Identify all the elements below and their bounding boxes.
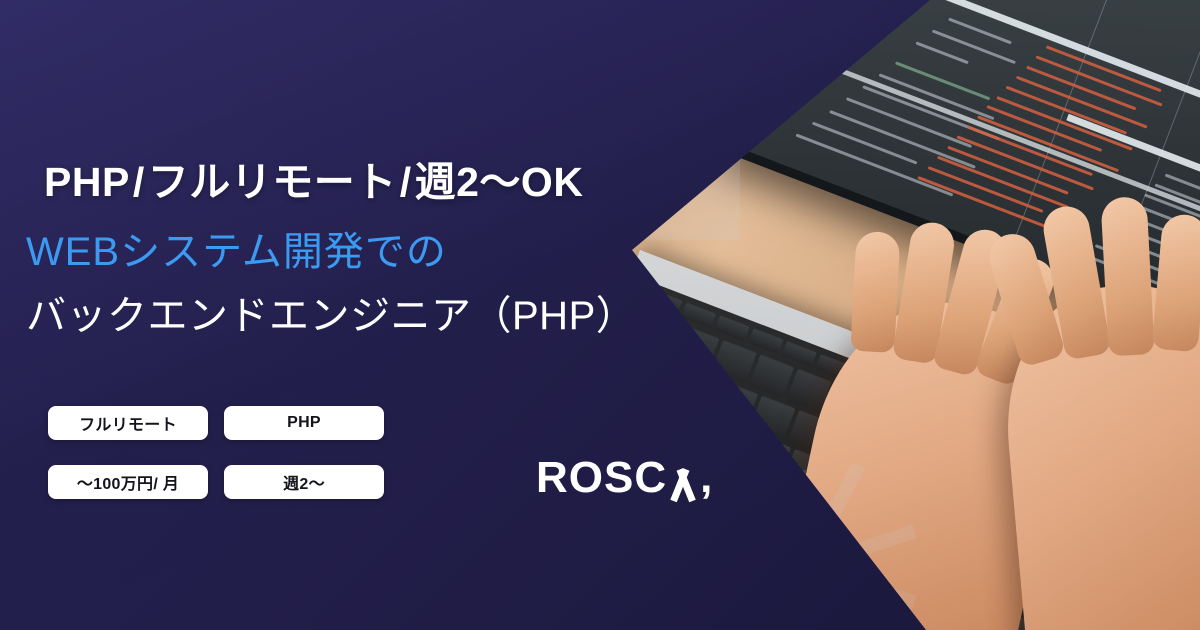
headline-part1: PHP xyxy=(44,159,130,205)
tag-list: フルリモート PHP 〜100万円/ 月 週2〜 xyxy=(48,406,384,499)
tag-php[interactable]: PHP xyxy=(224,406,384,440)
tag-full-remote[interactable]: フルリモート xyxy=(48,406,208,440)
rosca-logo: ROSC , xyxy=(536,456,712,500)
ogp-card: PHP/フルリモート/週2〜OK WEBシステム開発での バックエンドエンジニア… xyxy=(0,0,1200,630)
headline-separator-2: / xyxy=(397,159,415,205)
headline-separator-1: / xyxy=(130,159,148,205)
headline-part3: 週2〜OK xyxy=(415,159,584,205)
page-title: PHP/フルリモート/週2〜OK xyxy=(44,148,583,208)
logo-comma: , xyxy=(700,456,712,500)
subtitle-line-2: バックエンドエンジニア（PHP） xyxy=(26,283,636,341)
headline-part2: フルリモート xyxy=(148,159,397,205)
subtitle-line-1: WEBシステム開発での xyxy=(26,219,447,277)
card-content: PHP/フルリモート/週2〜OK WEBシステム開発での バックエンドエンジニア… xyxy=(0,0,1200,630)
tag-monthly-rate[interactable]: 〜100万円/ 月 xyxy=(48,465,208,499)
tag-days-per-week[interactable]: 週2〜 xyxy=(224,465,384,499)
logo-lambda-icon xyxy=(668,469,698,501)
logo-wordmark: ROSC xyxy=(536,456,667,500)
